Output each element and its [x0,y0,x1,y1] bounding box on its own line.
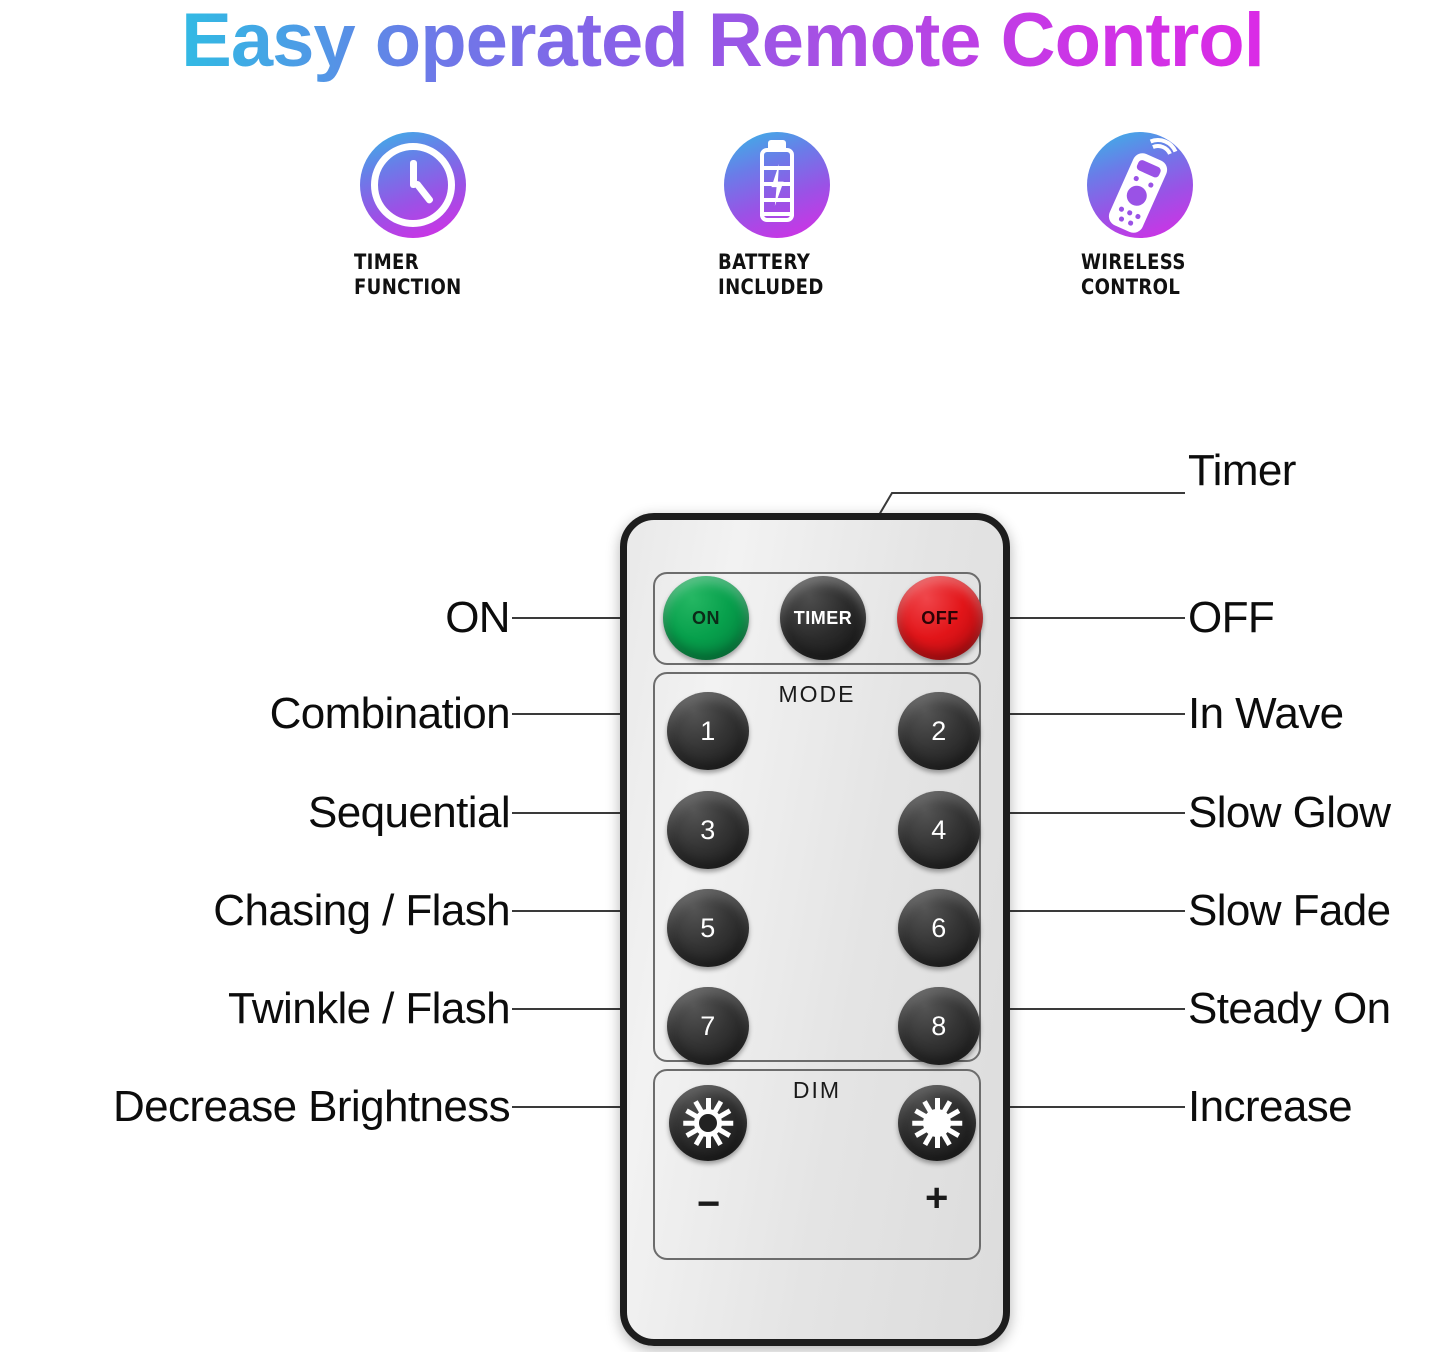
dim-button-group: DIM − + [653,1069,981,1260]
callout-steady-on: Steady On [1188,983,1391,1035]
badge-battery-line2: INCLUDED [718,275,971,300]
callout-twinkle-flash: Twinkle / Flash [60,983,510,1035]
battery-icon [724,132,830,238]
callout-decrease-brightness: Decrease Brightness [4,1081,510,1133]
badge-timer-line1: TIMER [354,250,607,275]
callout-in-wave: In Wave [1188,688,1344,740]
power-button-group: ON TIMER OFF [653,572,981,665]
page-title: Easy operated Remote Control [0,0,1445,86]
mode-button-4[interactable]: 4 [898,791,980,869]
badge-wireless-line2: CONTROL [1081,275,1334,300]
badge-timer-line2: FUNCTION [354,275,607,300]
dim-minus-label: − [697,1189,720,1219]
mode-button-group: MODE 1 2 3 4 5 6 7 8 [653,672,981,1062]
on-button[interactable]: ON [663,576,749,660]
mode-button-6[interactable]: 6 [898,889,980,967]
callout-sequential: Sequential [110,787,510,839]
mode-button-5[interactable]: 5 [667,889,749,967]
badge-wireless-control: WIRELESS CONTROL [1075,132,1375,300]
remote-icon [1087,132,1193,238]
badge-wireless-line1: WIRELESS [1081,250,1334,275]
dim-plus-label: + [925,1183,948,1213]
callout-chasing-flash: Chasing / Flash [60,885,510,937]
callout-slow-fade: Slow Fade [1188,885,1390,937]
off-button[interactable]: OFF [897,576,983,660]
mode-button-1[interactable]: 1 [667,692,749,770]
callout-off: OFF [1188,592,1274,644]
dim-decrease-button[interactable] [669,1085,747,1161]
badge-timer-function: TIMER FUNCTION [348,132,648,300]
mode-button-8[interactable]: 8 [898,987,980,1065]
sun-bright-icon [912,1098,962,1148]
dim-increase-button[interactable] [898,1085,976,1161]
clock-icon [360,132,466,238]
callout-on: ON [210,592,510,644]
callout-increase: Increase [1188,1081,1352,1133]
sun-dim-icon [683,1098,733,1148]
timer-button[interactable]: TIMER [780,576,866,660]
feature-badges: TIMER FUNCTION BATTERY INCLUDED [0,132,1445,312]
mode-button-3[interactable]: 3 [667,791,749,869]
badge-battery-included: BATTERY INCLUDED [712,132,1012,300]
callout-slow-glow: Slow Glow [1188,787,1390,839]
badge-battery-line1: BATTERY [718,250,971,275]
mode-button-2[interactable]: 2 [898,692,980,770]
mode-button-7[interactable]: 7 [667,987,749,1065]
callout-timer: Timer [1188,445,1296,497]
callout-combination: Combination [110,688,510,740]
remote-control-body: ON TIMER OFF MODE 1 2 3 4 5 6 7 8 DIM [620,513,1010,1346]
